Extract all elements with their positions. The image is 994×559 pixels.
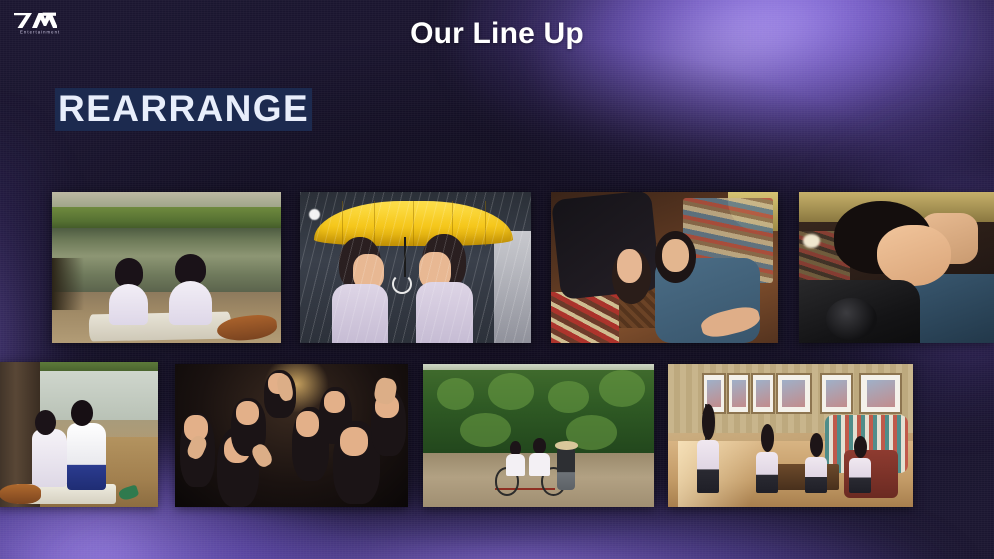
photo-4-artwork [799,192,994,343]
gallery-photo-6[interactable] [175,364,408,507]
photo-3-artwork [551,192,778,343]
photo-8-artwork [668,364,913,507]
gallery-photo-1[interactable] [52,192,281,343]
presentation-slide: Entertainment Our Line Up REARRANGE [0,0,994,559]
photo-6-artwork [175,364,408,507]
photo-7-artwork [423,364,654,507]
gallery-photo-7[interactable] [423,364,654,507]
photo-1-artwork [52,192,281,343]
photo-5-artwork [0,362,158,507]
gallery-photo-4[interactable] [799,192,994,343]
gallery-photo-3[interactable] [551,192,778,343]
gallery-photo-8[interactable] [668,364,913,507]
photo-2-artwork [300,192,531,343]
section-heading-rearrange[interactable]: REARRANGE [55,88,312,131]
slide-title: Our Line Up [0,17,994,51]
gallery-photo-2[interactable] [300,192,531,343]
gallery-photo-5[interactable] [0,362,158,507]
